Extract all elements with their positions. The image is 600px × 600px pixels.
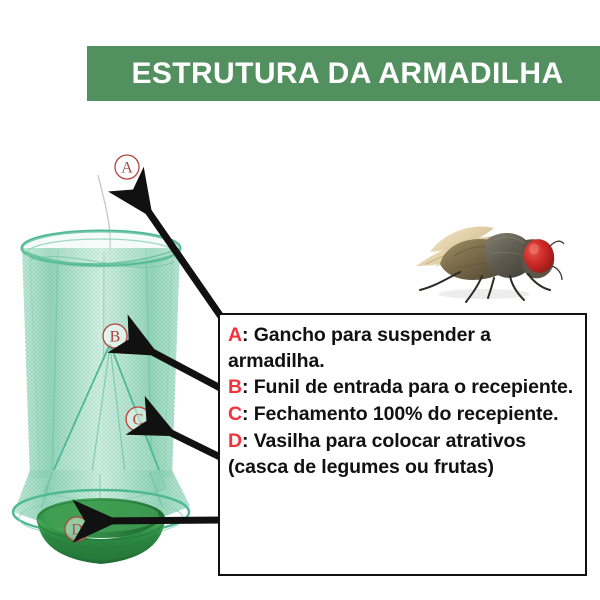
marker-d: D bbox=[65, 517, 89, 541]
header-banner: ESTRUTURA DA ARMADILHA bbox=[87, 46, 600, 101]
housefly-photo bbox=[398, 206, 568, 306]
infographic-page: ESTRUTURA DA ARMADILHA bbox=[0, 0, 600, 600]
svg-text:A: A bbox=[121, 160, 133, 177]
legend-text-d: : Vasilha para colocar atrativos (casca … bbox=[228, 430, 526, 478]
legend-item-a: A: Gancho para suspender a armadilha. bbox=[228, 323, 575, 374]
legend-text-a: : Gancho para suspender a armadilha. bbox=[228, 324, 491, 372]
legend-item-d: D: Vasilha para colocar atrativos (casca… bbox=[228, 429, 575, 480]
page-title: ESTRUTURA DA ARMADILHA bbox=[123, 59, 563, 89]
legend-key-a: A bbox=[228, 324, 242, 346]
svg-text:D: D bbox=[71, 522, 83, 539]
legend-box: A: Gancho para suspender a armadilha. B:… bbox=[218, 313, 587, 576]
legend-key-d: D bbox=[228, 430, 242, 452]
bait-bowl bbox=[37, 498, 165, 564]
legend-key-c: C bbox=[228, 403, 242, 425]
legend-item-c: C: Fechamento 100% do recepiente. bbox=[228, 402, 575, 428]
marker-c: C bbox=[126, 407, 150, 431]
fly-trap-illustration: A B C D bbox=[0, 140, 230, 580]
marker-b: B bbox=[103, 324, 127, 348]
svg-text:C: C bbox=[133, 412, 144, 429]
legend-item-b: B: Funil de entrada para o recepiente. bbox=[228, 375, 575, 401]
legend-key-b: B bbox=[228, 376, 242, 398]
legend-text-c: : Fechamento 100% do recepiente. bbox=[242, 403, 558, 425]
legend-text-b: : Funil de entrada para o recepiente. bbox=[242, 376, 573, 398]
marker-a: A bbox=[115, 155, 139, 179]
svg-text:B: B bbox=[110, 329, 121, 346]
